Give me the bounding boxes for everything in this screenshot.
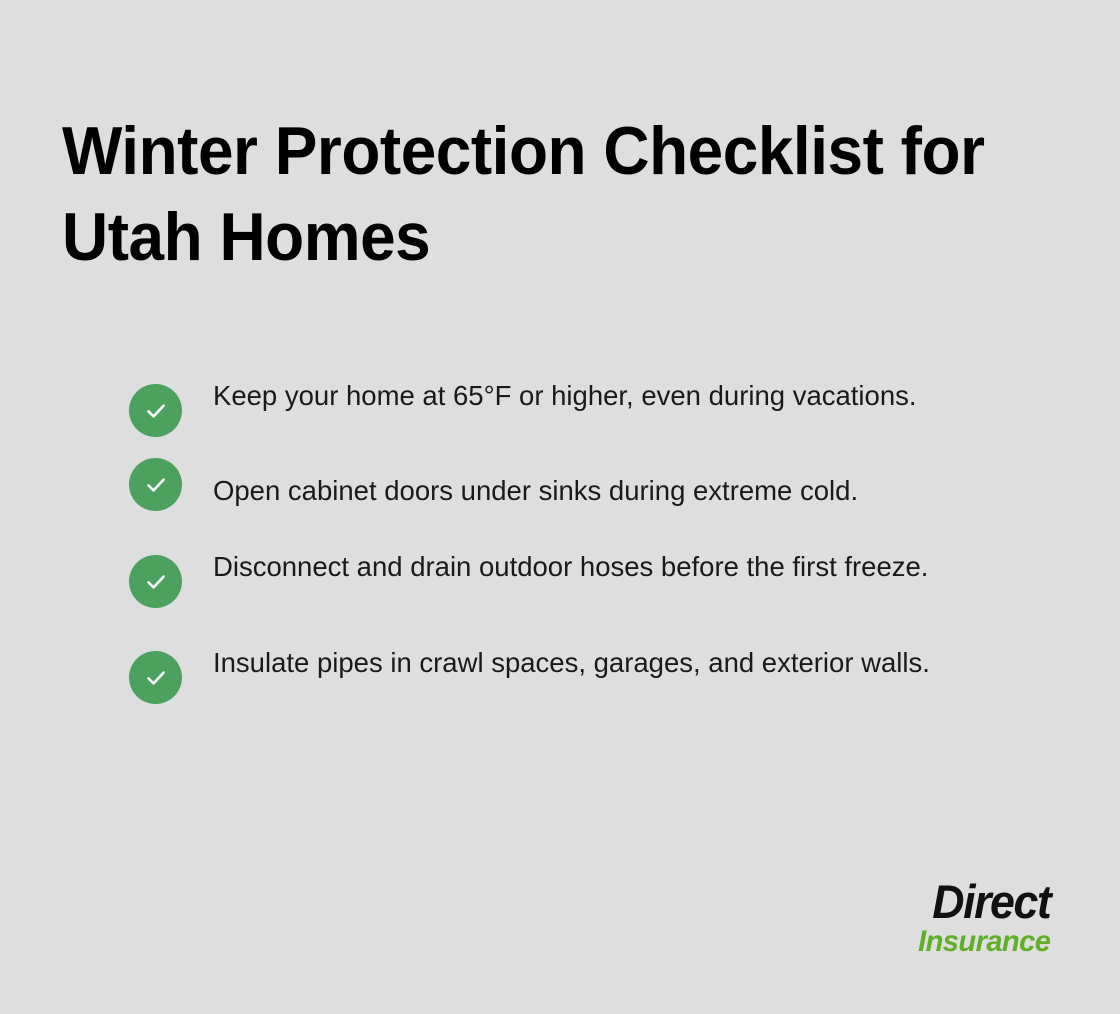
list-item-label: Disconnect and drain outdoor hoses befor… (213, 533, 1013, 588)
page-title: Winter Protection Checklist for Utah Hom… (62, 108, 1002, 280)
list-item-label: Keep your home at 65°F or higher, even d… (213, 362, 1013, 417)
infographic-canvas: Winter Protection Checklist for Utah Hom… (0, 0, 1120, 1014)
list-item: Insulate pipes in crawl spaces, garages,… (129, 629, 1029, 704)
title-block: Winter Protection Checklist for Utah Hom… (62, 108, 1062, 280)
check-circle-icon (129, 651, 182, 704)
list-item-label: Open cabinet doors under sinks during ex… (213, 458, 1013, 512)
list-item-label: Insulate pipes in crawl spaces, garages,… (213, 629, 1013, 684)
check-circle-icon (129, 384, 182, 437)
list-item: Open cabinet doors under sinks during ex… (129, 458, 1029, 512)
logo-secondary-text: Insurance (918, 927, 1050, 957)
brand-logo: Direct Insurance (914, 878, 1050, 957)
checklist: Keep your home at 65°F or higher, even d… (129, 362, 1029, 704)
check-circle-icon (129, 458, 182, 511)
list-item: Keep your home at 65°F or higher, even d… (129, 362, 1029, 437)
list-item: Disconnect and drain outdoor hoses befor… (129, 533, 1029, 608)
check-circle-icon (129, 555, 182, 608)
logo-primary-text: Direct (920, 878, 1050, 925)
